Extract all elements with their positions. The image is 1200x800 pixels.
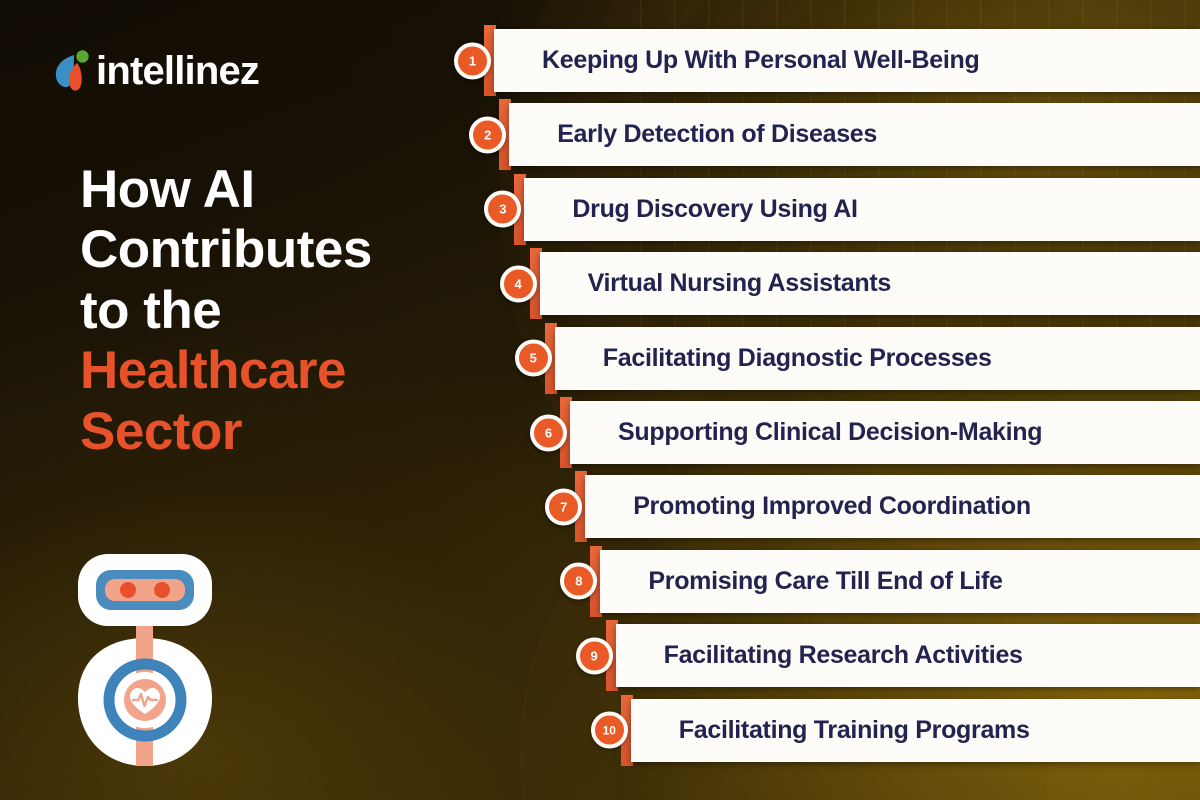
list-item[interactable]: Promoting Improved Coordination7	[563, 475, 1200, 538]
list-item-number-badge: 6	[530, 414, 567, 451]
list-item-number-badge: 1	[454, 42, 491, 79]
list-item-bar[interactable]: Keeping Up With Personal Well-Being	[494, 29, 1200, 92]
list-item[interactable]: Early Detection of Diseases2	[487, 103, 1200, 166]
list-item-label: Keeping Up With Personal Well-Being	[542, 46, 979, 75]
list-item[interactable]: Facilitating Training Programs10	[609, 699, 1200, 762]
benefits-list: Keeping Up With Personal Well-Being1Earl…	[0, 0, 1200, 800]
list-item-label: Facilitating Diagnostic Processes	[603, 344, 992, 373]
list-item-label: Promising Care Till End of Life	[648, 567, 1002, 596]
list-item[interactable]: Facilitating Research Activities9	[594, 624, 1200, 687]
list-item-number-badge: 4	[500, 265, 537, 302]
list-item-number-badge: 9	[576, 637, 613, 674]
list-item[interactable]: Promising Care Till End of Life8	[578, 550, 1200, 613]
list-item-label: Supporting Clinical Decision-Making	[618, 418, 1042, 447]
list-item[interactable]: Facilitating Diagnostic Processes5	[533, 327, 1200, 390]
list-item-label: Facilitating Training Programs	[679, 716, 1030, 745]
list-item[interactable]: Keeping Up With Personal Well-Being1	[472, 29, 1200, 92]
list-item-label: Promoting Improved Coordination	[633, 492, 1031, 521]
list-item-label: Early Detection of Diseases	[557, 120, 877, 149]
list-item-number-badge: 2	[469, 116, 506, 153]
list-item-label: Facilitating Research Activities	[664, 641, 1023, 670]
list-item-label: Virtual Nursing Assistants	[588, 269, 891, 298]
list-item-number-badge: 7	[545, 488, 582, 525]
infographic-canvas: intellinez How AI Contributes to the Hea…	[0, 0, 1200, 800]
list-item[interactable]: Supporting Clinical Decision-Making6	[548, 401, 1200, 464]
list-item-number-badge: 10	[591, 712, 628, 749]
list-item-bar[interactable]: Virtual Nursing Assistants	[540, 252, 1200, 315]
list-item-number-badge: 3	[484, 191, 521, 228]
list-item[interactable]: Drug Discovery Using AI3	[502, 178, 1200, 241]
list-item-bar[interactable]: Promising Care Till End of Life	[600, 550, 1200, 613]
list-item-number-badge: 8	[560, 563, 597, 600]
list-item-bar[interactable]: Early Detection of Diseases	[509, 103, 1200, 166]
list-item-bar[interactable]: Supporting Clinical Decision-Making	[570, 401, 1200, 464]
list-item-bar[interactable]: Facilitating Diagnostic Processes	[555, 327, 1200, 390]
list-item-bar[interactable]: Promoting Improved Coordination	[585, 475, 1200, 538]
list-item-bar[interactable]: Facilitating Training Programs	[631, 699, 1200, 762]
list-item[interactable]: Virtual Nursing Assistants4	[518, 252, 1200, 315]
list-item-number-badge: 5	[515, 340, 552, 377]
list-item-bar[interactable]: Drug Discovery Using AI	[524, 178, 1200, 241]
list-item-bar[interactable]: Facilitating Research Activities	[616, 624, 1200, 687]
list-item-label: Drug Discovery Using AI	[572, 195, 857, 224]
